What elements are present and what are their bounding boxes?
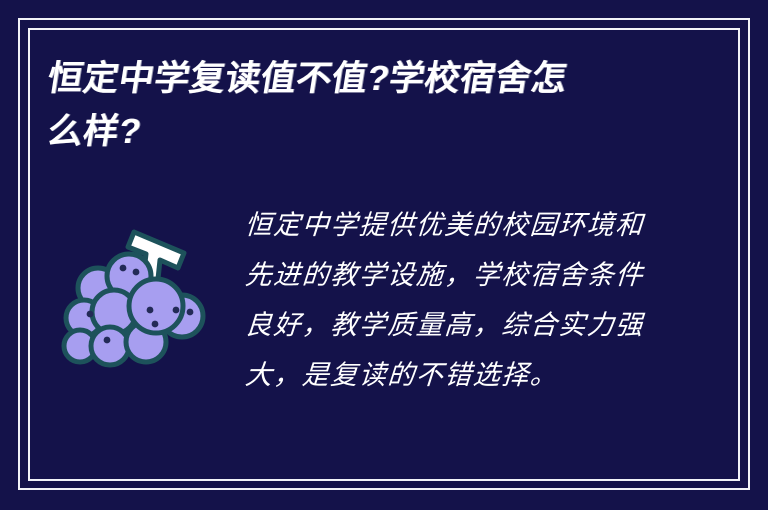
content-row: 恒定中学提供优美的校园环境和 先进的教学设施，学校宿舍条件 良好，教学质量高，综… — [60, 196, 708, 400]
grape-cluster-icon — [60, 206, 220, 381]
body-line-3: 良好，教学质量高，综合实力强 — [243, 300, 645, 350]
body-line-4: 大，是复读的不错选择。 — [243, 350, 645, 400]
page-title: 恒定中学复读值不值?学校宿舍怎 么样? — [48, 52, 688, 158]
body-paragraph: 恒定中学提供优美的校园环境和 先进的教学设施，学校宿舍条件 良好，教学质量高，综… — [245, 196, 644, 400]
body-line-2: 先进的教学设施，学校宿舍条件 — [243, 250, 645, 300]
poster-canvas: 恒定中学复读值不值?学校宿舍怎 么样? — [0, 0, 768, 510]
body-line-1: 恒定中学提供优美的校园环境和 — [243, 200, 645, 250]
title-line-1: 恒定中学复读值不值?学校宿舍怎 — [44, 52, 692, 105]
title-line-2: 么样? — [44, 105, 692, 158]
